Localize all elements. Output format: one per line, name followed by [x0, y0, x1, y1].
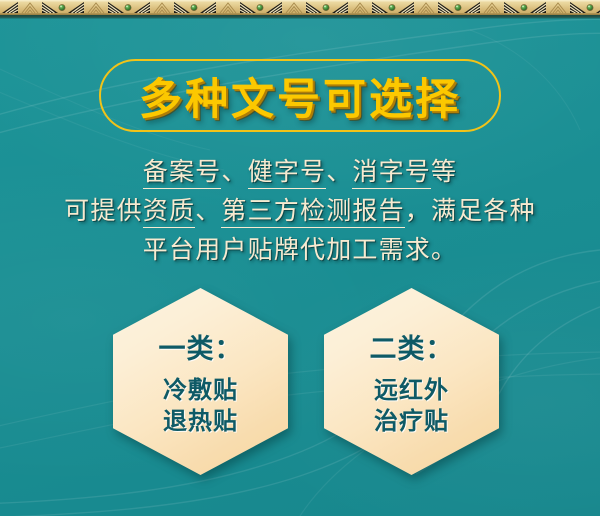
ornamental-band-icon [0, 0, 600, 15]
hexagon-content: 一类： 冷敷贴 退热贴 [113, 288, 288, 475]
description-line: 平台用户贴牌代加工需求。 [0, 230, 600, 269]
description-text: 、 [195, 196, 221, 225]
hexagon-item: 远红外 [374, 375, 449, 406]
promo-banner: 多种文号可选择 备案号、健字号、消字号等 可提供资质、第三方检测报告，满足各种 … [0, 0, 600, 516]
category-hexagon-2[interactable]: 二类： 远红外 治疗贴 [324, 288, 499, 475]
description-text: 、 [326, 157, 352, 186]
hexagon-content: 二类： 远红外 治疗贴 [324, 288, 499, 475]
description-line: 可提供资质、第三方检测报告，满足各种 [0, 191, 600, 230]
description-paragraph: 备案号、健字号、消字号等 可提供资质、第三方检测报告，满足各种 平台用户贴牌代加… [0, 152, 600, 269]
description-line: 备案号、健字号、消字号等 [0, 152, 600, 191]
hexagon-item: 退热贴 [163, 406, 238, 437]
description-text: 、 [221, 157, 247, 186]
description-emphasis: 消字号 [352, 157, 431, 189]
description-text: 可提供 [64, 196, 143, 225]
hexagon-item: 治疗贴 [374, 406, 449, 437]
hexagon-title: 一类： [159, 327, 243, 366]
hexagon-title: 二类： [370, 327, 454, 366]
description-text: 等 [431, 157, 457, 186]
border-underline-strip [0, 15, 600, 19]
description-text: 平台用户贴牌代加工需求。 [143, 235, 457, 264]
category-hexagon-1[interactable]: 一类： 冷敷贴 退热贴 [113, 288, 288, 475]
page-title: 多种文号可选择 [101, 61, 499, 130]
title-frame: 多种文号可选择 [99, 59, 501, 132]
description-text: ，满足各种 [405, 196, 536, 225]
description-emphasis: 资质 [143, 196, 195, 228]
hexagon-item: 冷敷贴 [163, 375, 238, 406]
description-emphasis: 第三方检测报告 [221, 196, 404, 228]
description-emphasis: 健字号 [248, 157, 327, 189]
description-emphasis: 备案号 [143, 157, 222, 189]
